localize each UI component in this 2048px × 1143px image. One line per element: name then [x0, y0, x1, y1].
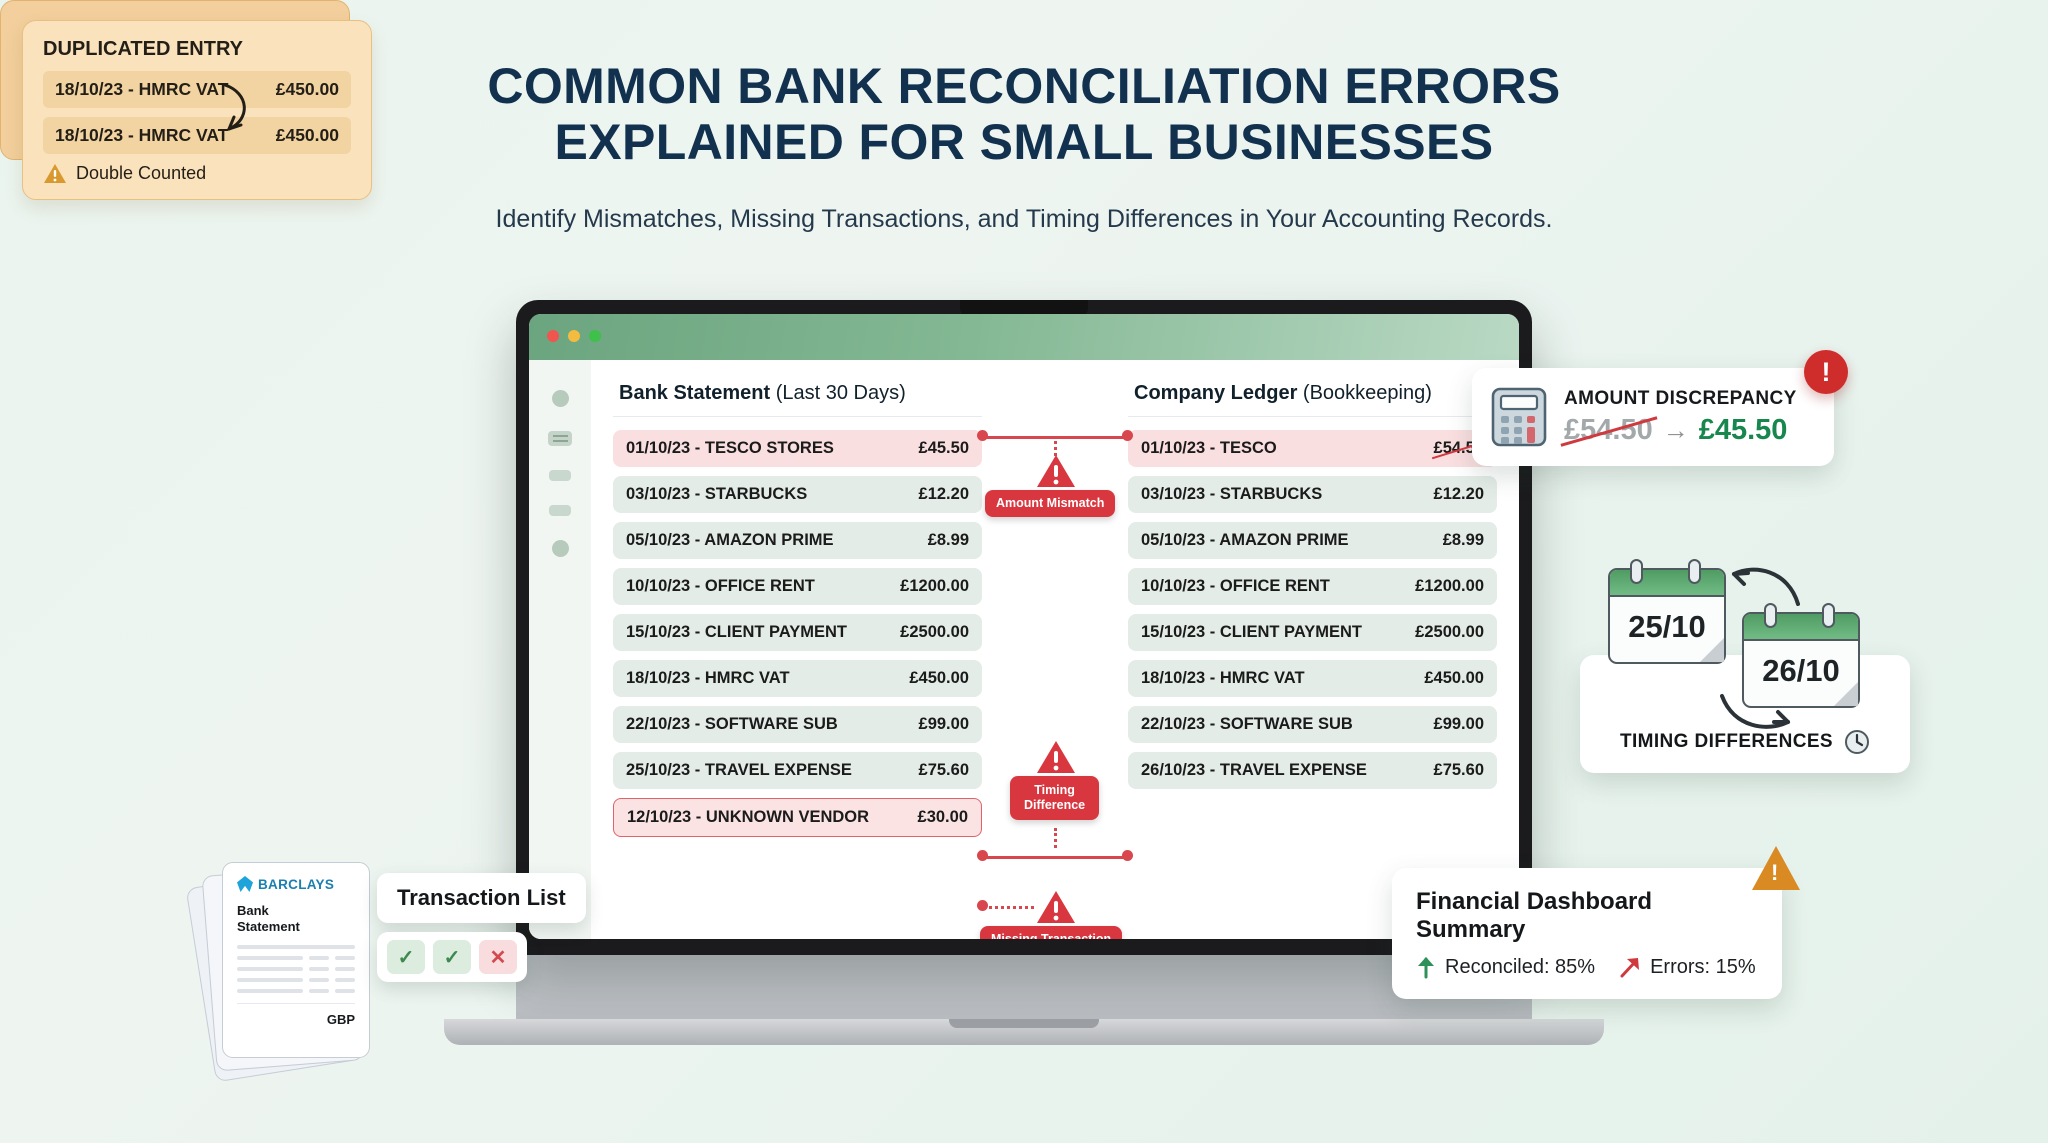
row-label: 05/10/23 - AMAZON PRIME — [626, 531, 834, 550]
row-amount: £450.00 — [1424, 669, 1484, 688]
calendar-icon-25: 25/10 — [1608, 568, 1726, 664]
table-row[interactable]: 03/10/23 - STARBUCKS£12.20 — [1128, 476, 1497, 513]
arrow-curve-right-icon — [1716, 690, 1796, 736]
row-amount: £2500.00 — [900, 623, 969, 642]
row-label: 01/10/23 - TESCO STORES — [626, 439, 834, 458]
bank-statement-rows: 01/10/23 - TESCO STORES£45.5003/10/23 - … — [613, 430, 982, 837]
barclays-eagle-icon — [237, 876, 253, 892]
check-icon-1: ✓ — [387, 940, 425, 974]
table-row[interactable]: 26/10/23 - TRAVEL EXPENSE£75.60 — [1128, 752, 1497, 789]
amount-discrepancy-card: ! AMOUNT DISCREPANCY £54.50 → £45.50 — [1472, 368, 1834, 466]
barclays-name: BARCLAYS — [258, 877, 334, 892]
connector-node-left-2 — [977, 850, 988, 861]
stat-reconciled-text: Reconciled: 85% — [1445, 956, 1595, 979]
arrow-right-icon: → — [1663, 415, 1689, 446]
cross-icon-1: ✕ — [479, 940, 517, 974]
laptop-base — [444, 1019, 1604, 1045]
page-subtitle: Identify Mismatches, Missing Transaction… — [0, 205, 2048, 234]
warning-triangle-icon — [43, 163, 67, 184]
company-ledger-heading: Company Ledger (Bookkeeping) — [1128, 382, 1497, 417]
duplicated-entry-row-label: 18/10/23 - HMRC VAT — [55, 79, 228, 100]
connector-node-right-2 — [1122, 850, 1133, 861]
connector-dots-1 — [1054, 436, 1057, 456]
document-sheet-front: BARCLAYS Bank Statement GBP — [222, 862, 370, 1058]
calendar-ring-left — [1630, 559, 1643, 584]
company-ledger-title: Company Ledger — [1134, 382, 1297, 404]
bank-statement-subtitle: (Last 30 Days) — [776, 382, 906, 404]
app-body: Bank Statement (Last 30 Days) 01/10/23 -… — [529, 360, 1519, 939]
alert-badge-icon: ! — [1804, 350, 1848, 394]
warning-triangle-icon-missing — [1036, 890, 1076, 924]
sidebar-icon-settings[interactable] — [549, 505, 571, 516]
connector-node-left-1 — [977, 430, 988, 441]
connector-missing-transaction — [982, 906, 1034, 909]
table-row[interactable]: 22/10/23 - SOFTWARE SUB£99.00 — [613, 706, 982, 743]
laptop-mockup: Bank Statement (Last 30 Days) 01/10/23 -… — [516, 300, 1532, 1045]
barclays-logo: BARCLAYS — [237, 876, 355, 892]
duplicated-entry-row-amount: £450.00 — [276, 125, 339, 146]
connector-node-right-1 — [1122, 430, 1133, 441]
laptop-lid: Bank Statement (Last 30 Days) 01/10/23 -… — [516, 300, 1532, 955]
maximize-window-button[interactable] — [589, 330, 601, 342]
stat-errors-text: Errors: 15% — [1650, 956, 1756, 979]
window-controls[interactable] — [547, 330, 601, 342]
document-placeholder-row — [237, 978, 355, 982]
minimize-window-button[interactable] — [568, 330, 580, 342]
row-amount: £45.50 — [919, 439, 969, 458]
financial-summary-card: ! Financial Dashboard Summary Reconciled… — [1392, 868, 1782, 999]
row-label: 22/10/23 - SOFTWARE SUB — [626, 715, 838, 734]
row-label: 15/10/23 - CLIENT PAYMENT — [1141, 623, 1362, 642]
duplicated-entry-body: DUPLICATED ENTRY 18/10/23 - HMRC VAT £45… — [22, 20, 372, 200]
sidebar-icon-dashboard[interactable] — [552, 390, 569, 407]
warning-glyph: ! — [1771, 860, 1778, 886]
calendar-fold-corner — [1834, 682, 1858, 706]
row-label: 03/10/23 - STARBUCKS — [1141, 485, 1322, 504]
row-amount: £1200.00 — [900, 577, 969, 596]
duplicated-entry-title: DUPLICATED ENTRY — [43, 38, 351, 61]
amount-discrepancy-content: AMOUNT DISCREPANCY £54.50 → £45.50 — [1564, 388, 1797, 447]
row-label: 18/10/23 - HMRC VAT — [1141, 669, 1305, 688]
transaction-list-status-icons: ✓ ✓ ✕ — [377, 932, 527, 982]
document-placeholder-row — [237, 967, 355, 971]
duplicated-entry-row-label: 18/10/23 - HMRC VAT — [55, 125, 228, 146]
table-row[interactable]: 22/10/23 - SOFTWARE SUB£99.00 — [1128, 706, 1497, 743]
row-amount: £8.99 — [1443, 531, 1484, 550]
row-label: 22/10/23 - SOFTWARE SUB — [1141, 715, 1353, 734]
company-ledger-pane: Company Ledger (Bookkeeping) 01/10/23 - … — [1120, 382, 1505, 939]
table-row[interactable]: 15/10/23 - CLIENT PAYMENT£2500.00 — [1128, 614, 1497, 651]
row-amount: £2500.00 — [1415, 623, 1484, 642]
table-row[interactable]: 18/10/23 - HMRC VAT£450.00 — [613, 660, 982, 697]
connector-dots-2 — [1054, 828, 1057, 848]
amount-discrepancy-old-value: £54.50 — [1564, 414, 1653, 447]
check-icon-2: ✓ — [433, 940, 471, 974]
connector-node-left-3 — [977, 900, 988, 911]
row-amount: £99.00 — [919, 715, 969, 734]
row-amount: £1200.00 — [1415, 577, 1484, 596]
document-currency: GBP — [237, 1003, 355, 1027]
company-ledger-rows: 01/10/23 - TESCO£54.5003/10/23 - STARBUC… — [1128, 430, 1497, 789]
table-row[interactable]: 05/10/23 - AMAZON PRIME£8.99 — [613, 522, 982, 559]
table-row[interactable]: 01/10/23 - TESCO STORES£45.50 — [613, 430, 982, 467]
app-screen: Bank Statement (Last 30 Days) 01/10/23 -… — [529, 314, 1519, 939]
calendar-ring-right — [1822, 603, 1835, 628]
calculator-icon — [1490, 386, 1548, 448]
document-title-line-2: Statement — [237, 919, 355, 935]
table-row[interactable]: 18/10/23 - HMRC VAT£450.00 — [1128, 660, 1497, 697]
document-placeholder-row — [237, 956, 355, 960]
connector-column: Amount Mismatch Timing Difference — [990, 382, 1120, 939]
warning-triangle-icon-timing — [1036, 740, 1076, 774]
amount-discrepancy-new-value: £45.50 — [1699, 414, 1788, 447]
connector-timing-difference — [982, 856, 1128, 859]
reconciliation-panes: Bank Statement (Last 30 Days) 01/10/23 -… — [591, 360, 1519, 939]
calendar-header — [1744, 614, 1858, 641]
bank-statement-heading: Bank Statement (Last 30 Days) — [613, 382, 982, 417]
amount-discrepancy-values: £54.50 → £45.50 — [1564, 414, 1797, 447]
table-row[interactable]: 01/10/23 - TESCO£54.50 — [1128, 430, 1497, 467]
row-label: 10/10/23 - OFFICE RENT — [626, 577, 815, 596]
sidebar-icon-profile[interactable] — [552, 540, 569, 557]
stat-reconciled: Reconciled: 85% — [1416, 955, 1595, 979]
calendar-header — [1610, 570, 1724, 597]
badge-timing-line-2: Difference — [1024, 798, 1085, 813]
row-amount: £75.60 — [919, 761, 969, 780]
arrow-up-icon — [1416, 955, 1436, 979]
row-amount: £8.99 — [928, 531, 969, 550]
table-row[interactable]: 10/10/23 - OFFICE RENT£1200.00 — [1128, 568, 1497, 605]
row-amount: £75.60 — [1434, 761, 1484, 780]
arrow-curve-left-icon — [1726, 562, 1806, 612]
table-row[interactable]: 05/10/23 - AMAZON PRIME£8.99 — [1128, 522, 1497, 559]
arrow-up-right-icon — [1619, 955, 1641, 979]
table-row[interactable]: 25/10/23 - TRAVEL EXPENSE£75.60 — [613, 752, 982, 789]
row-label: 25/10/23 - TRAVEL EXPENSE — [626, 761, 852, 780]
badge-missing-transaction: Missing Transaction — [980, 926, 1122, 939]
row-label: 01/10/23 - TESCO — [1141, 439, 1277, 458]
financial-summary-title: Financial Dashboard Summary — [1416, 888, 1758, 944]
sidebar-icon-reports[interactable] — [549, 470, 571, 481]
bank-statement-document-stack: BARCLAYS Bank Statement GBP — [200, 862, 390, 1072]
badge-timing-line-1: Timing — [1024, 783, 1085, 798]
calendar-ring-right — [1688, 559, 1701, 584]
clock-icon — [1844, 729, 1870, 755]
document-title: Bank Statement — [237, 903, 355, 935]
row-label: 26/10/23 - TRAVEL EXPENSE — [1141, 761, 1367, 780]
transaction-list-label: Transaction List — [377, 873, 586, 923]
row-label: 15/10/23 - CLIENT PAYMENT — [626, 623, 847, 642]
row-label: 05/10/23 - AMAZON PRIME — [1141, 531, 1349, 550]
row-amount: £450.00 — [909, 669, 969, 688]
table-row[interactable]: 03/10/23 - STARBUCKS£12.20 — [613, 476, 982, 513]
stat-errors: Errors: 15% — [1619, 955, 1756, 979]
row-label: 03/10/23 - STARBUCKS — [626, 485, 807, 504]
row-amount: £12.20 — [1434, 485, 1484, 504]
row-label: 10/10/23 - OFFICE RENT — [1141, 577, 1330, 596]
laptop-keyboard — [516, 955, 1532, 1019]
duplicated-entry-note-text: Double Counted — [76, 163, 206, 184]
warning-triangle-icon-mismatch — [1036, 454, 1076, 488]
document-placeholder-row — [237, 989, 355, 993]
company-ledger-subtitle: (Bookkeeping) — [1303, 382, 1432, 404]
sidebar-rail[interactable] — [529, 360, 591, 939]
duplicated-entry-row-amount: £450.00 — [276, 79, 339, 100]
sidebar-icon-list[interactable] — [548, 431, 572, 446]
calendar-fold-corner — [1700, 638, 1724, 662]
row-label: 12/10/23 - UNKNOWN VENDOR — [627, 808, 869, 827]
document-placeholder-line — [237, 945, 355, 949]
warning-triangle-icon-summary: ! — [1752, 846, 1800, 890]
document-title-line-1: Bank — [237, 903, 355, 919]
financial-summary-stats: Reconciled: 85% Errors: 15% — [1416, 955, 1758, 979]
duplicate-link-arrow-icon — [219, 79, 265, 141]
duplicated-entry-note: Double Counted — [43, 163, 351, 184]
table-row[interactable]: 12/10/23 - UNKNOWN VENDOR£30.00 — [613, 798, 982, 837]
table-row[interactable]: 10/10/23 - OFFICE RENT£1200.00 — [613, 568, 982, 605]
bank-statement-pane: Bank Statement (Last 30 Days) 01/10/23 -… — [605, 382, 990, 939]
app-titlebar — [529, 314, 1519, 360]
row-label: 18/10/23 - HMRC VAT — [626, 669, 790, 688]
bank-statement-title: Bank Statement — [619, 382, 770, 404]
row-amount: £12.20 — [919, 485, 969, 504]
badge-timing-difference: Timing Difference — [1010, 776, 1099, 820]
row-amount: £99.00 — [1434, 715, 1484, 734]
badge-amount-mismatch: Amount Mismatch — [985, 490, 1115, 517]
amount-discrepancy-title: AMOUNT DISCREPANCY — [1564, 388, 1797, 410]
duplicated-entry-row: 18/10/23 - HMRC VAT £450.00 — [43, 117, 351, 154]
row-amount: £30.00 — [918, 808, 968, 827]
table-row[interactable]: 15/10/23 - CLIENT PAYMENT£2500.00 — [613, 614, 982, 651]
close-window-button[interactable] — [547, 330, 559, 342]
duplicated-entry-row: 18/10/23 - HMRC VAT £450.00 — [43, 71, 351, 108]
